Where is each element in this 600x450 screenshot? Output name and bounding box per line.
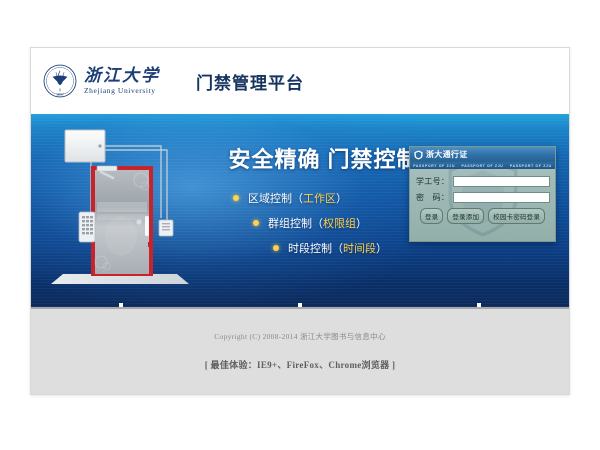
site-card: 1897 浙江大学 Zhejiang University 门禁管理平台 [30,47,570,395]
footer-copyright: Copyright (C) 2008-2014 浙江大学图书与信息中心 [214,331,386,342]
feature-text-after: ） [376,240,387,256]
access-control-door-illustration [49,124,197,300]
feature-text-before: 区域控制（ [248,190,303,206]
svg-text:1897: 1897 [56,92,64,96]
login-title-bar: 浙大通行证 [410,147,555,162]
password-label: 密 码： [416,192,449,203]
strip-word: PASSPORT OF ZJU [413,164,455,168]
feature-text-after: ） [336,190,347,206]
campus-card-login-button[interactable]: 校园卡密码登录 [488,208,545,224]
site-footer: Copyright (C) 2008-2014 浙江大学图书与信息中心 [ 最佳… [31,307,569,395]
student-staff-id-label: 学工号： [416,176,449,187]
strip-word: PASSPORT OF ZJU [462,164,504,168]
footer-browser-note: [ 最佳体验：IE9+、FireFox、Chrome浏览器 ] [205,358,396,371]
login-panel: 浙大通行证 PASSPORT OF ZJU PASSPORT OF ZJU PA… [409,146,556,242]
feature-item-timeslot: 时段控制（ 时间段 ） [199,240,449,256]
login-button[interactable]: 登录 [420,208,443,224]
bullet-icon [273,245,279,251]
page-title: 门禁管理平台 [196,69,304,94]
hero-banner: 安全精确 门禁控制 区域控制（ 工作区 ） 群组控制（ 权限组 ） [31,114,569,307]
feature-text-before: 时段控制（ [288,240,343,256]
page-background: 1897 浙江大学 Zhejiang University 门禁管理平台 [0,0,600,450]
bullet-icon [253,220,259,226]
login-button-group: 登录 登录添加 校园卡密码登录 [410,208,555,224]
feature-text-before: 群组控制（ [268,215,323,231]
logo-wordmark: 浙江大学 Zhejiang University [84,67,160,95]
university-logo[interactable]: 1897 浙江大学 Zhejiang University [43,64,160,98]
form-row-id: 学工号： [416,176,549,187]
passport-strip: PASSPORT OF ZJU PASSPORT OF ZJU PASSPORT… [410,162,555,169]
site-header: 1897 浙江大学 Zhejiang University 门禁管理平台 [31,48,569,114]
password-field[interactable] [453,192,550,203]
logo-chinese-name: 浙江大学 [84,67,160,84]
student-staff-id-field[interactable] [453,176,550,187]
shield-icon [414,150,423,160]
feature-text-after: ） [356,215,367,231]
logo-english-name: Zhejiang University [84,87,160,95]
login-add-button[interactable]: 登录添加 [447,208,484,224]
form-row-password: 密 码： [416,192,549,203]
feature-highlight: 时间段 [343,240,376,256]
strip-word: PASSPORT OF ZJU [510,164,552,168]
feature-highlight: 权限组 [323,215,356,231]
feature-highlight: 工作区 [303,190,336,206]
bullet-icon [233,195,239,201]
login-form: 学工号： 密 码： [410,169,555,203]
login-title: 浙大通行证 [426,149,468,160]
zju-seal-icon: 1897 [43,64,77,98]
